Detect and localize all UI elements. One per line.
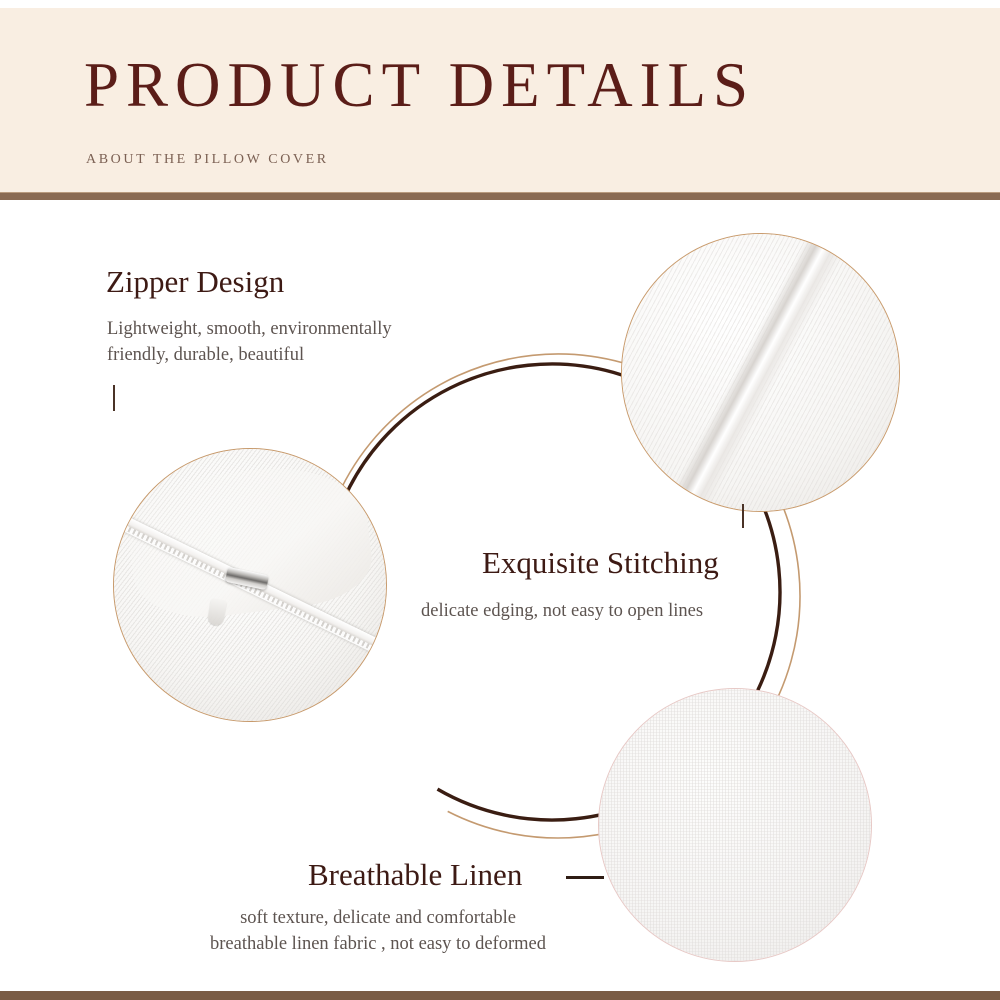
feature-description-zipper: Lightweight, smooth, environmentally fri… [107,316,392,368]
tick-mark-zipper [113,385,115,411]
dash-connector-linen [566,876,604,879]
feature-description-stitching: delicate edging, not easy to open lines [421,598,703,624]
feature-title-zipper: Zipper Design [106,264,284,300]
page-subtitle: ABOUT THE PILLOW COVER [86,152,329,168]
zipper-pull-tab [207,597,227,625]
header-divider-rule [0,192,1000,200]
linen-fabric-texture [599,689,871,961]
tick-mark-stitching [742,504,744,528]
zipper-fabric-texture [114,449,386,721]
photo-circle-zipper [113,448,387,722]
feature-title-stitching: Exquisite Stitching [482,545,719,581]
feature-title-linen: Breathable Linen [308,857,522,893]
footer-divider-rule [0,991,1000,1000]
photo-circle-linen [598,688,872,962]
product-details-page: PRODUCT DETAILS ABOUT THE PILLOW COVER Z… [0,0,1000,1000]
feature-description-linen: soft texture, delicate and comfortable b… [188,905,568,957]
photo-circle-stitching [621,233,900,512]
page-title: PRODUCT DETAILS [84,54,755,117]
stitching-fabric-texture [622,234,899,511]
